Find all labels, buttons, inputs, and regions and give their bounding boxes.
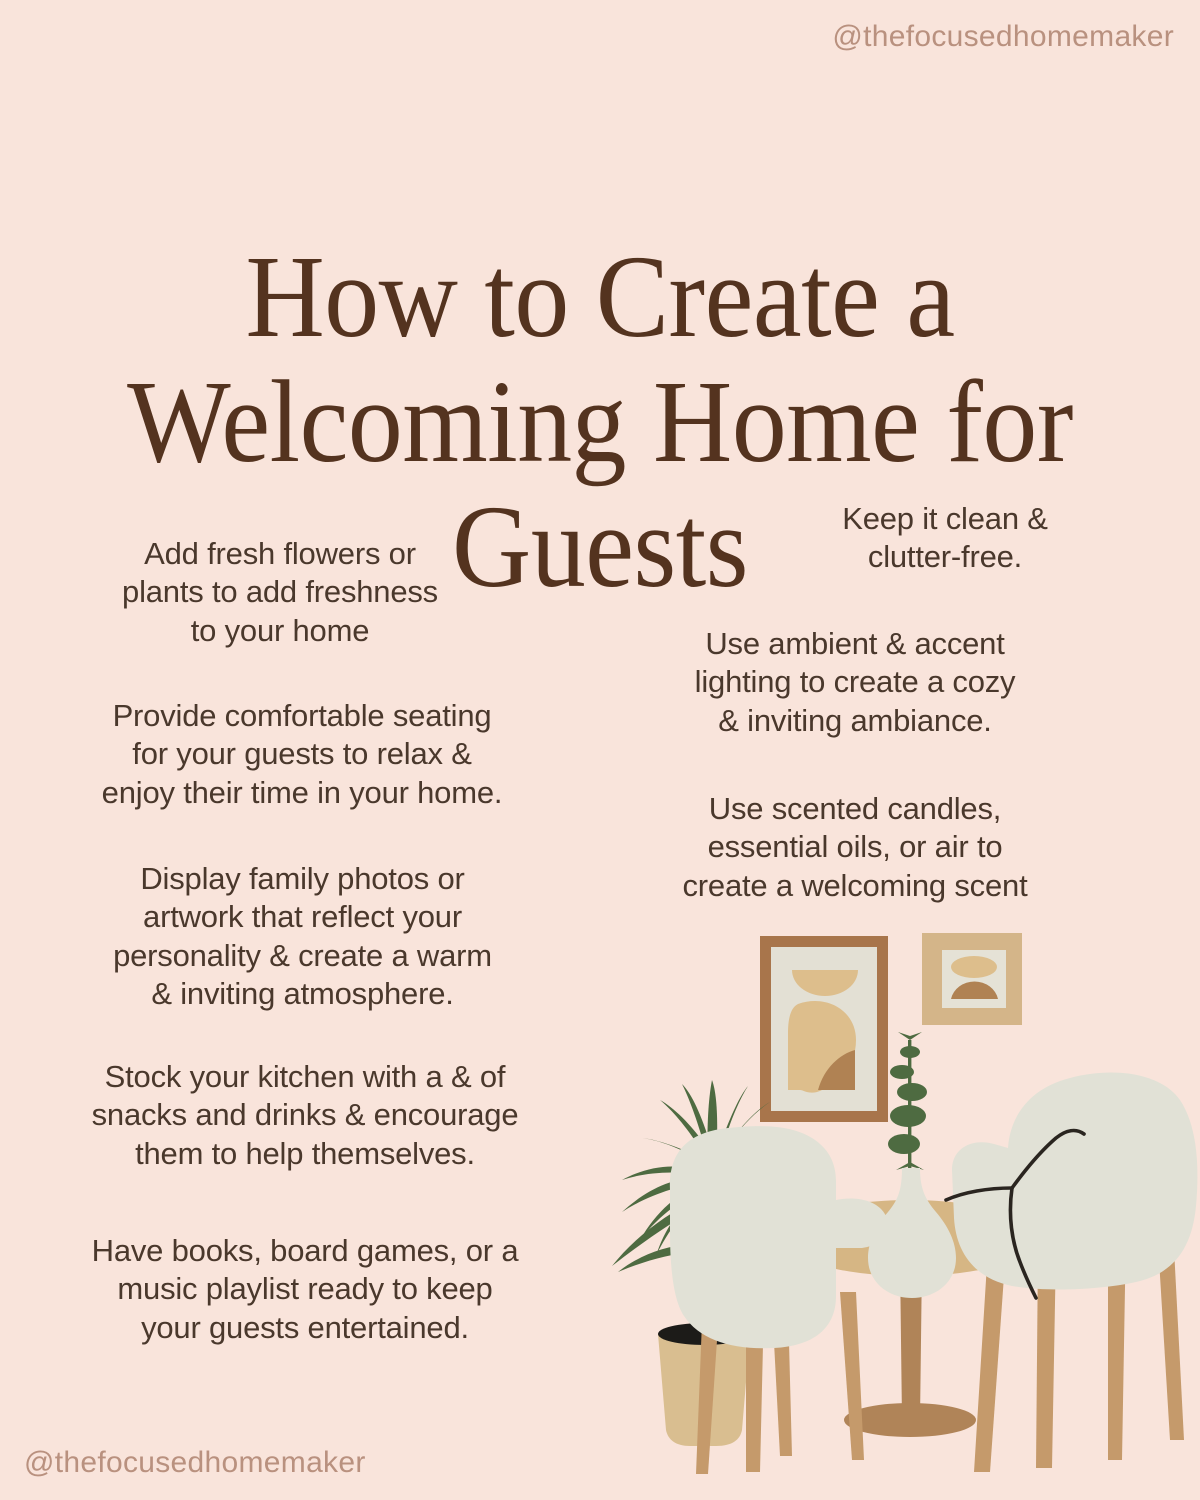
tip-line: plants to add freshness [30, 573, 530, 611]
tip-line: them to help themselves. [25, 1135, 585, 1173]
page-title-line-2: Welcoming Home for [79, 359, 1121, 484]
tip-line: enjoy their time in your home. [22, 774, 582, 812]
tip-entertainment: Have books, board games, or a music play… [25, 1232, 585, 1347]
framed-abstract-art-small [922, 933, 1022, 1025]
tip-line: & inviting atmosphere. [30, 975, 575, 1013]
tip-line: & inviting ambiance. [625, 702, 1085, 740]
tip-line: Keep it clean & [770, 500, 1120, 538]
tip-line: Provide comfortable seating [22, 697, 582, 735]
tip-family-photos: Display family photos or artwork that re… [30, 860, 575, 1014]
living-room-illustration [560, 900, 1200, 1500]
armchair-right [946, 1073, 1197, 1472]
tip-line: Add fresh flowers or [30, 535, 530, 573]
tip-line: clutter-free. [770, 538, 1120, 576]
tip-line: music playlist ready to keep [25, 1270, 585, 1308]
page-title-line-1: How to Create a [79, 234, 1121, 359]
tip-line: Use ambient & accent [625, 625, 1085, 663]
tip-line: essential oils, or air to [620, 828, 1090, 866]
tip-line: snacks and drinks & encourage [25, 1096, 585, 1134]
tip-scented-candles: Use scented candles, essential oils, or … [620, 790, 1090, 905]
tip-ambient-lighting: Use ambient & accent lighting to create … [625, 625, 1085, 740]
infographic-poster: @thefocusedhomemaker How to Create a Wel… [0, 0, 1200, 1500]
tip-line: Have books, board games, or a [25, 1232, 585, 1270]
armchair-left [670, 1126, 888, 1474]
tip-stock-kitchen: Stock your kitchen with a & of snacks an… [25, 1058, 585, 1173]
tip-line: to your home [30, 612, 530, 650]
tip-comfortable-seating: Provide comfortable seating for your gue… [22, 697, 582, 812]
tip-keep-clean: Keep it clean & clutter-free. [770, 500, 1120, 577]
tip-fresh-flowers: Add fresh flowers or plants to add fresh… [30, 535, 530, 650]
tip-line: Use scented candles, [620, 790, 1090, 828]
brand-handle-top: @thefocusedhomemaker [832, 20, 1174, 54]
brand-handle-bottom: @thefocusedhomemaker [24, 1446, 366, 1480]
tip-line: personality & create a warm [30, 937, 575, 975]
tip-line: lighting to create a cozy [625, 663, 1085, 701]
framed-abstract-art-large [760, 936, 888, 1122]
tip-line: for your guests to relax & [22, 735, 582, 773]
tip-line: your guests entertained. [25, 1309, 585, 1347]
tip-line: Display family photos or [30, 860, 575, 898]
tip-line: artwork that reflect your [30, 898, 575, 936]
tip-line: Stock your kitchen with a & of [25, 1058, 585, 1096]
